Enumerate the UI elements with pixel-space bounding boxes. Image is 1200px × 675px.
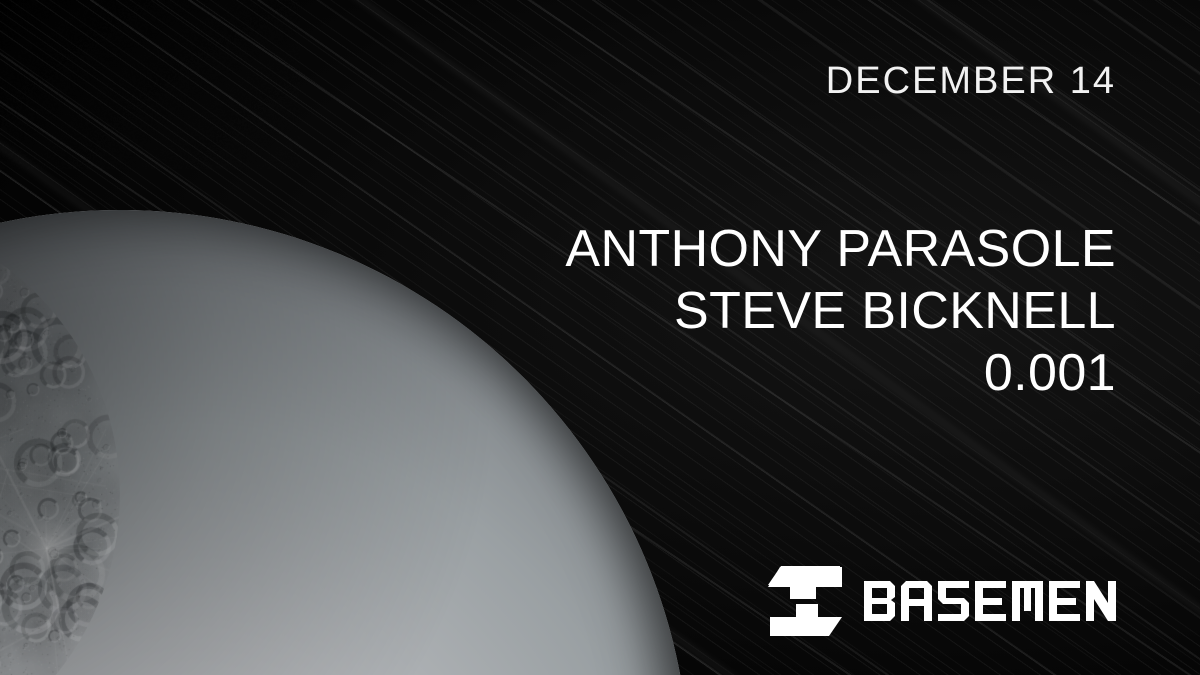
basement-wordmark: [864, 581, 1116, 621]
basement-logo-mark: [768, 565, 842, 637]
lineup-artist: ANTHONY PARASOLE: [565, 218, 1116, 280]
event-poster: DECEMBER 14 ANTHONY PARASOLE STEVE BICKN…: [0, 0, 1200, 675]
poster-content: DECEMBER 14 ANTHONY PARASOLE STEVE BICKN…: [0, 0, 1200, 675]
lineup-artist: 0.001: [565, 342, 1116, 404]
basement-logo: [768, 565, 1116, 637]
artist-lineup: ANTHONY PARASOLE STEVE BICKNELL 0.001: [565, 218, 1116, 404]
event-date: DECEMBER 14: [826, 62, 1116, 100]
lineup-artist: STEVE BICKNELL: [565, 280, 1116, 342]
